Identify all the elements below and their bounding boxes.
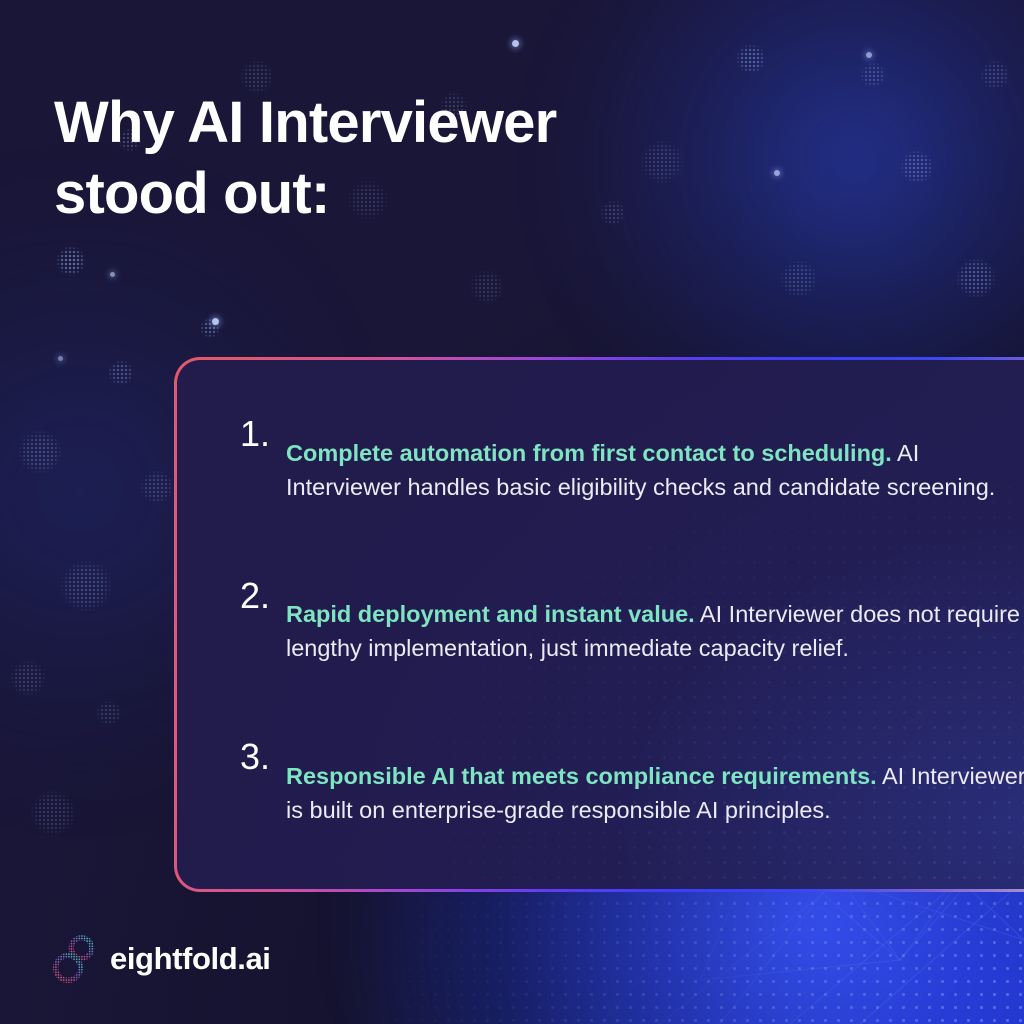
list-item-lead: Rapid deployment and instant value. — [286, 601, 695, 627]
highlights-card-inner: 1. Complete automation from first contac… — [177, 360, 1024, 889]
highlights-list: 1. Complete automation from first contac… — [177, 360, 1024, 851]
list-item-number: 3. — [240, 733, 286, 775]
list-item-number: 2. — [240, 572, 286, 614]
slide-canvas: Why AI Interviewer stood out: 1. Complet… — [0, 0, 1024, 1024]
list-item: 3. Responsible AI that meets compliance … — [240, 733, 1024, 851]
brand-logo: eightfold.ai — [52, 932, 271, 984]
list-item-number: 1. — [240, 410, 286, 452]
eightfold-infinity-icon — [52, 932, 98, 984]
list-item-text: Responsible AI that meets compliance req… — [286, 757, 1024, 828]
list-item: 1. Complete automation from first contac… — [240, 410, 1024, 528]
brand-name: eightfold.ai — [110, 943, 271, 974]
list-item-text: Rapid deployment and instant value. AI I… — [286, 595, 1024, 666]
list-item-text: Complete automation from first contact t… — [286, 434, 1024, 505]
list-item-lead: Responsible AI that meets compliance req… — [286, 763, 877, 789]
highlights-card: 1. Complete automation from first contac… — [174, 357, 1024, 892]
list-item-lead: Complete automation from first contact t… — [286, 440, 892, 466]
page-title: Why AI Interviewer stood out: — [54, 88, 694, 230]
list-item: 2. Rapid deployment and instant value. A… — [240, 572, 1024, 690]
